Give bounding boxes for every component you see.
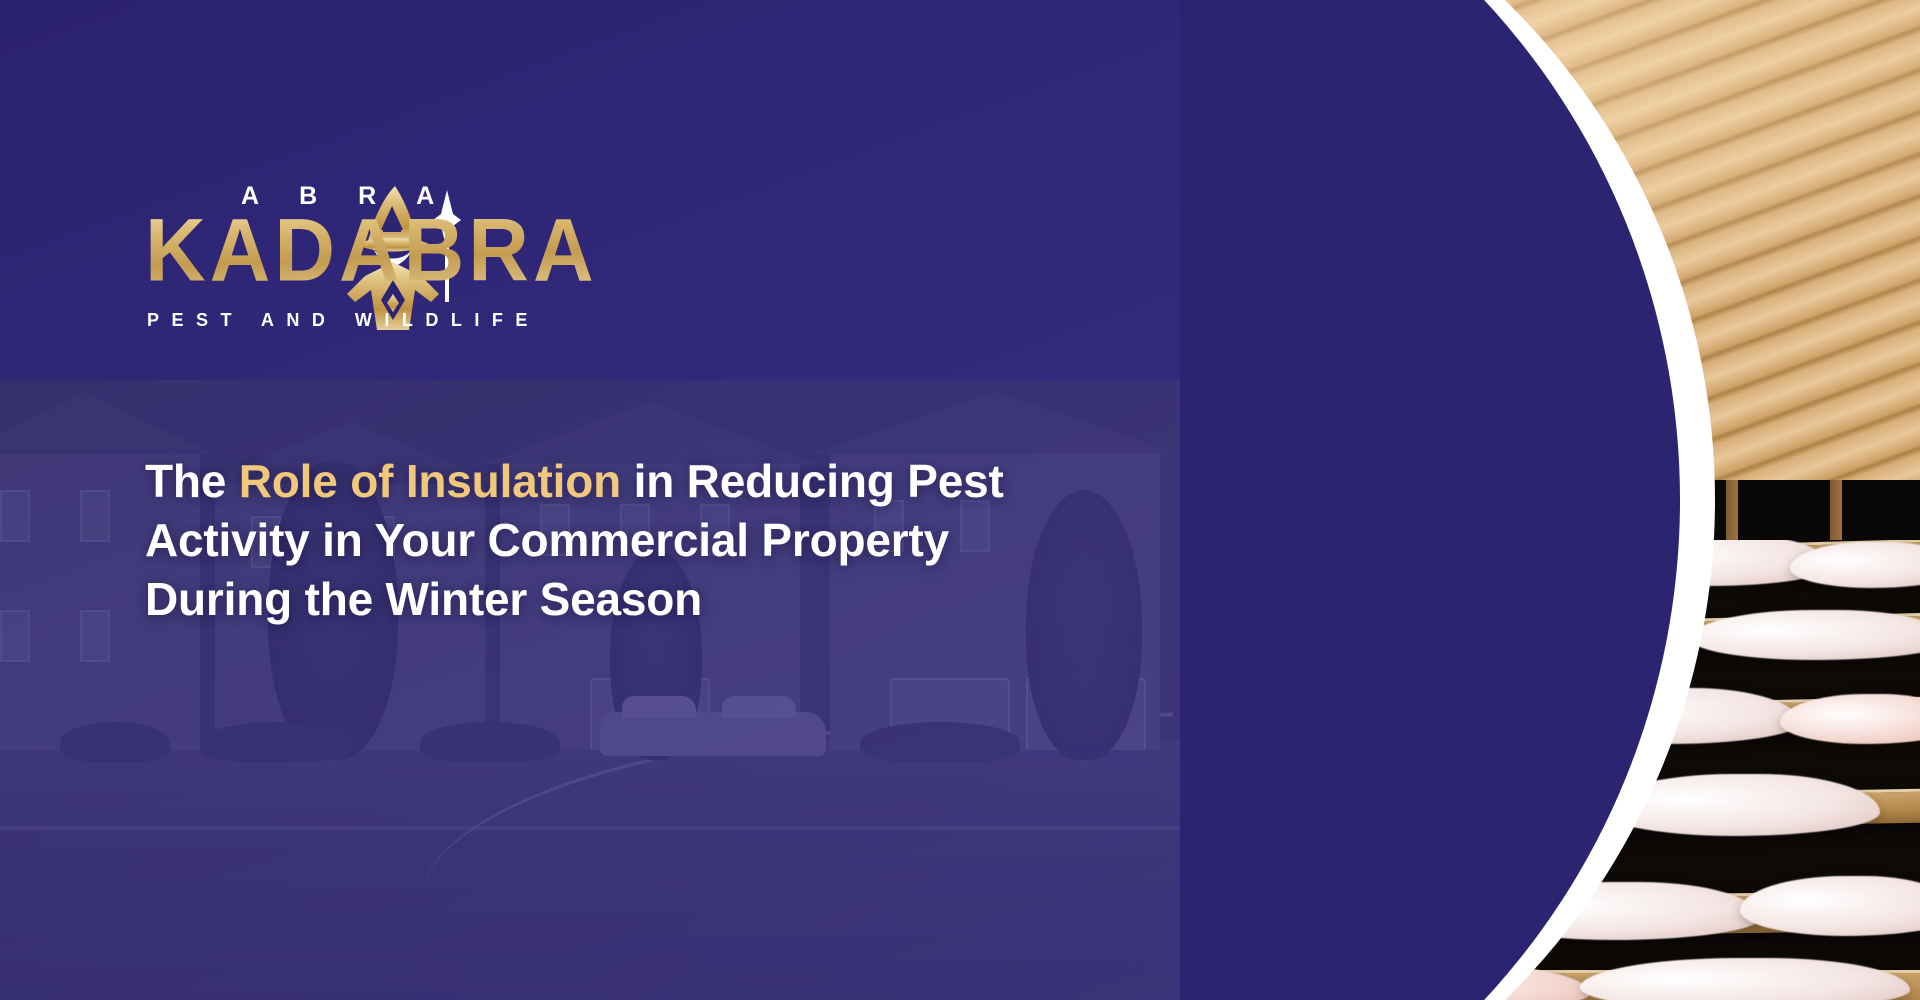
insulation-batt bbox=[1740, 876, 1920, 936]
blog-banner: A B R A bbox=[0, 0, 1920, 1000]
logo-tagline: PEST AND WILDLIFE bbox=[147, 310, 540, 331]
brand-logo[interactable]: A B R A bbox=[145, 178, 615, 368]
headline-part-1: The bbox=[145, 455, 239, 507]
logo-kadabra-text: KADABRA bbox=[145, 205, 598, 294]
parked-car bbox=[700, 712, 826, 756]
house-window bbox=[0, 610, 30, 662]
shrub bbox=[420, 722, 560, 762]
content-panel: A B R A bbox=[0, 0, 1180, 1000]
shrub bbox=[860, 722, 1020, 762]
insulation-batt bbox=[1580, 958, 1910, 1000]
house-window bbox=[80, 610, 110, 662]
house-window bbox=[0, 490, 30, 542]
house-window bbox=[80, 490, 110, 542]
shrub bbox=[200, 722, 350, 762]
headline-highlight: Role of Insulation bbox=[239, 455, 621, 507]
page-title: The Role of Insulation in Reducing Pest … bbox=[145, 452, 1045, 629]
shrub bbox=[60, 722, 170, 762]
